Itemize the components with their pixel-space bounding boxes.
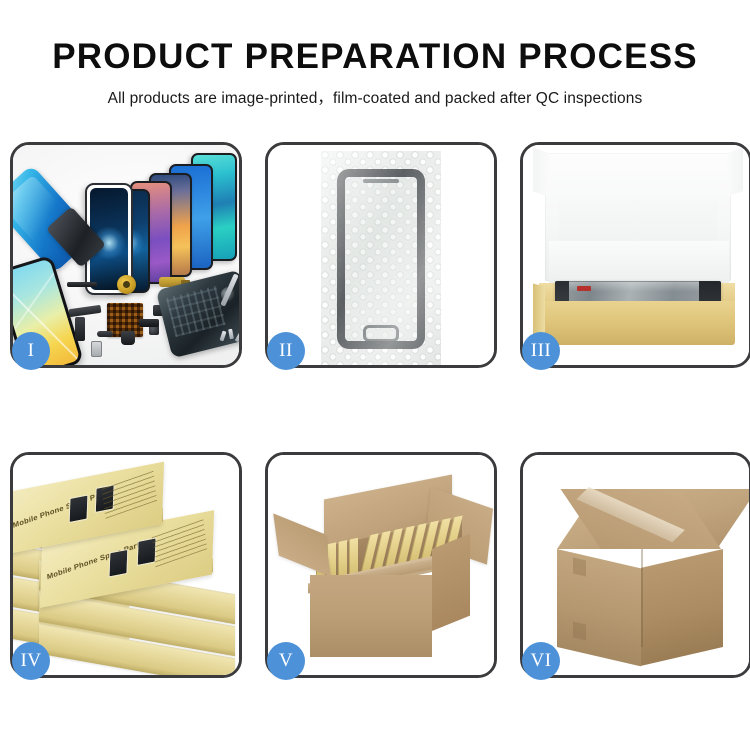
process-step-panel-2[interactable]: II <box>265 142 497 368</box>
foam-insert <box>549 241 729 283</box>
vibrator-motor-part <box>139 319 159 327</box>
step-badge-2: II <box>267 332 305 370</box>
carton-right-face <box>432 534 470 631</box>
box-print-screen-image <box>69 494 89 523</box>
screws-group <box>221 329 239 343</box>
step-badge-1: I <box>12 332 50 370</box>
carton-flap-tab <box>573 557 586 576</box>
box-print-screen-image <box>108 549 128 578</box>
wrapped-screen-outline <box>337 169 425 349</box>
bubble-wrap-sheet <box>321 151 441 365</box>
carton-vertical-seam <box>641 549 643 647</box>
step-badge-3: III <box>522 332 560 370</box>
process-step-grid: I II <box>10 142 740 678</box>
earpiece-slot <box>363 179 399 183</box>
step-2-image <box>268 145 494 365</box>
red-label-mark <box>577 286 591 291</box>
step-4-image: Mobile Phone Spare Parts Mobile Phone Sp… <box>13 455 239 675</box>
sealed-carton-right-face <box>641 549 723 666</box>
earpiece-speaker-part <box>67 282 97 287</box>
kraft-tray-front <box>539 301 735 345</box>
process-step-panel-1[interactable]: I <box>10 142 242 368</box>
step-1-image <box>13 145 239 365</box>
page-title: PRODUCT PREPARATION PROCESS <box>0 36 750 78</box>
volume-button-part <box>97 331 113 337</box>
process-step-panel-3[interactable]: III <box>520 142 750 368</box>
step-badge-4: IV <box>12 642 50 680</box>
wireless-charging-coil-part <box>117 275 136 294</box>
step-5-image <box>268 455 494 675</box>
product-preparation-infographic: PRODUCT PREPARATION PROCESS All products… <box>0 0 750 750</box>
page-subtitle: All products are image-printed，film-coat… <box>0 89 750 109</box>
sim-tray-part <box>91 341 102 357</box>
process-step-panel-4[interactable]: Mobile Phone Spare Parts Mobile Phone Sp… <box>10 452 242 678</box>
side-flex-part <box>75 317 85 341</box>
process-step-panel-6[interactable]: VI <box>520 452 750 678</box>
retail-box-label: Mobile Phone Spare Parts <box>46 539 144 582</box>
step-3-image <box>523 145 749 365</box>
carton-front-face <box>310 575 432 657</box>
step-badge-5: V <box>267 642 305 680</box>
step-6-image <box>523 455 749 675</box>
flex-cable-part <box>69 305 102 317</box>
retail-box-stack: Mobile Phone Spare Parts Mobile Phone Sp… <box>13 465 239 675</box>
carton-flap-tab <box>573 621 586 640</box>
header: PRODUCT PREPARATION PROCESS All products… <box>0 36 750 109</box>
sealed-carton-left-face <box>557 549 641 666</box>
box-print-text-lines <box>101 468 157 519</box>
process-step-panel-5[interactable]: V <box>265 452 497 678</box>
loudspeaker-part <box>121 331 135 345</box>
step-badge-6: VI <box>522 642 560 680</box>
